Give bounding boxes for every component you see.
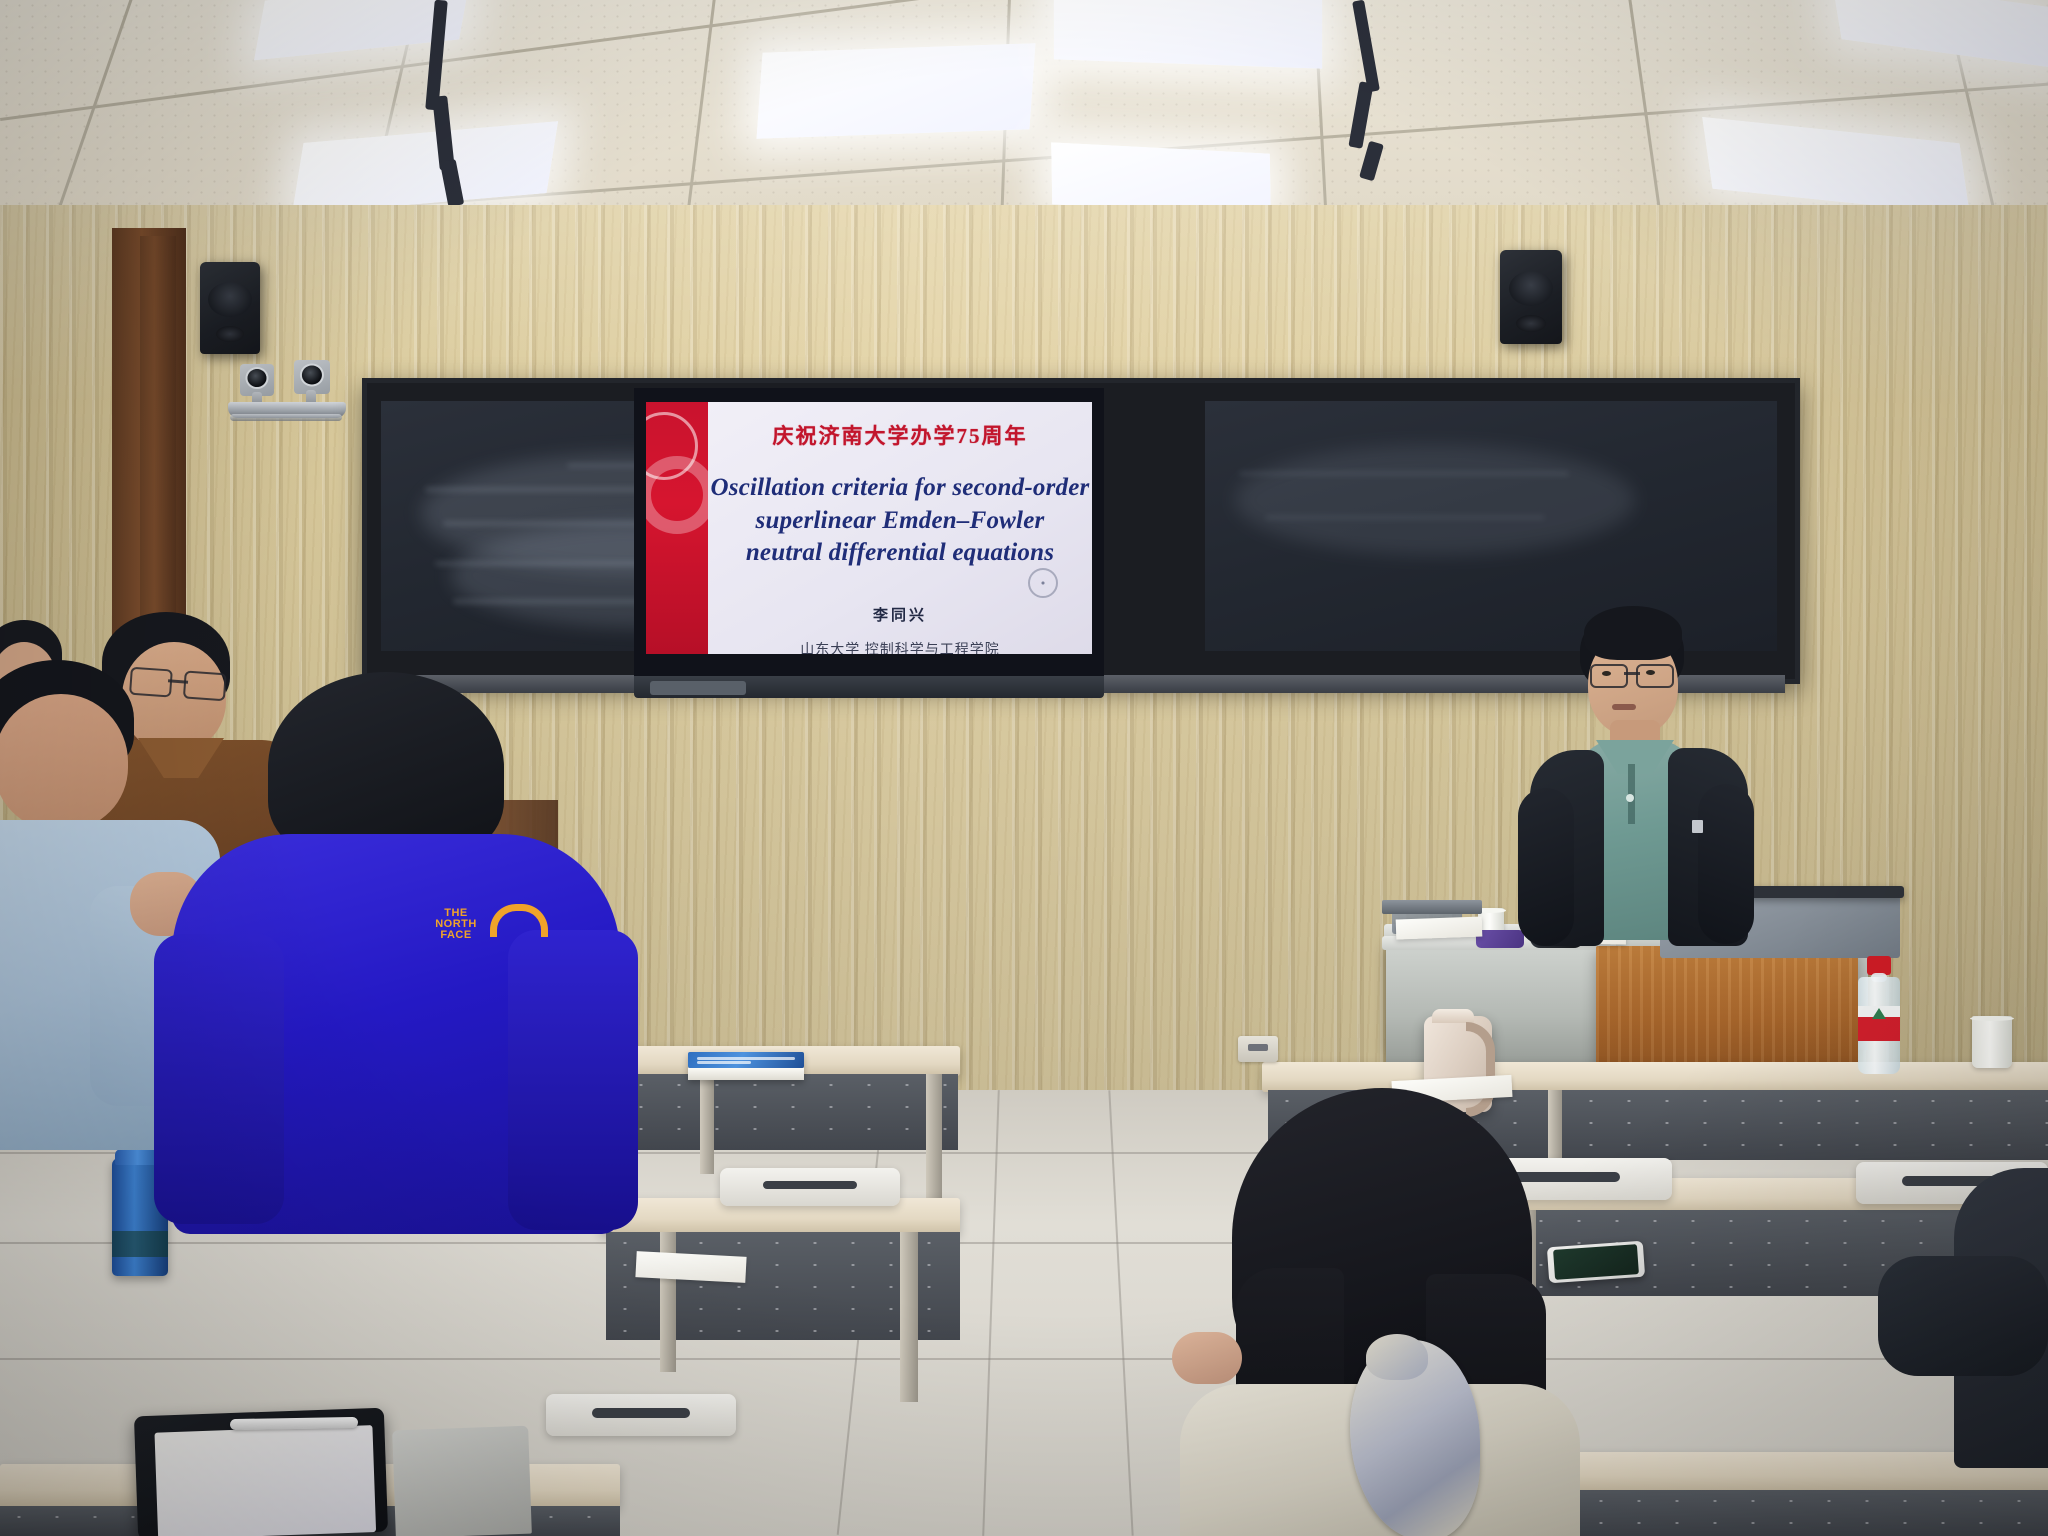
- book-pages: [688, 1068, 804, 1080]
- attendee-head: [0, 694, 128, 830]
- chair-back-slot: [592, 1408, 691, 1417]
- wall-speaker-right: [1500, 250, 1562, 344]
- camera-lens: [302, 365, 322, 384]
- speaker-cone: [208, 282, 251, 317]
- chair-center-front[interactable]: [546, 1394, 736, 1436]
- presenter-jacket-badge: [1692, 820, 1703, 833]
- north-face-logo: THE NORTH FACE: [424, 908, 488, 941]
- slide-accent-bar: [646, 402, 708, 654]
- speaker-tweeter: [216, 326, 245, 343]
- book-cover-line: [697, 1061, 750, 1064]
- ceiling-light-panel: [1054, 0, 1322, 69]
- desk-leg: [900, 1232, 918, 1402]
- lectern-counter-left: [1386, 944, 1612, 1064]
- water-bottle-nongfu-spring: [1858, 956, 1900, 1074]
- chalk-streak: [1239, 471, 1569, 476]
- floor-tile-line: [982, 1090, 1000, 1536]
- blue-cover-book: [688, 1052, 804, 1080]
- floor-tile-line: [0, 1358, 2048, 1360]
- laptop-on-lectern[interactable]: [1382, 900, 1482, 914]
- slide-ring-decor: [646, 456, 716, 534]
- glasses-right-lens: [1636, 664, 1674, 688]
- book-cover-line: [697, 1057, 794, 1060]
- laptop-silver[interactable]: [392, 1426, 532, 1536]
- title-slide: 庆祝济南大学办学75周年 Oscillation criteria for se…: [646, 402, 1092, 654]
- kettle-lid: [1432, 1009, 1474, 1023]
- slide-affiliation: 山东大学 控制科学与工程学院: [800, 639, 1000, 655]
- tablet-screen[interactable]: [155, 1425, 376, 1536]
- wall-speaker-left: [200, 262, 260, 354]
- presenter-arm-left: [1518, 788, 1574, 946]
- presenter-mouth: [1612, 704, 1636, 710]
- slide-title-line-3: neutral differential equations: [711, 537, 1090, 570]
- camera-unit-right: [294, 360, 330, 394]
- thermos-band: [112, 1231, 168, 1257]
- podium-wood-grain: [1596, 946, 1858, 1078]
- logo-line-3: FACE: [424, 930, 488, 941]
- chalk-streak: [1265, 515, 1545, 520]
- presenter: [1492, 608, 1772, 938]
- glasses-bridge: [1624, 672, 1641, 675]
- ceiling-light-panel: [757, 43, 1036, 138]
- stylus-pen: [230, 1417, 358, 1430]
- speaker-tweeter: [1516, 315, 1546, 332]
- paper-cup-right-desk: [1972, 1016, 2012, 1068]
- slide-author: 李同兴: [873, 604, 927, 625]
- speaker-cone: [1509, 271, 1554, 307]
- camera-lens: [247, 369, 266, 387]
- glasses-left-lens: [1590, 664, 1628, 688]
- slide-banner-cn: 庆祝济南大学办学75周年: [773, 420, 1028, 450]
- screen-control-strip[interactable]: [650, 681, 746, 695]
- presenter-eye-right: [1646, 670, 1655, 675]
- scarf-knot: [1366, 1334, 1428, 1380]
- attendee-right-edge-arm: [1878, 1256, 2048, 1416]
- attendee-shoulder-left: [154, 934, 284, 1224]
- attendee-long-hair-scarf: [1180, 1088, 1600, 1536]
- attendee-shoulder-right: [508, 930, 638, 1230]
- chair-back-slot: [763, 1181, 857, 1189]
- book-cover: [688, 1052, 804, 1068]
- screen-settings-icon[interactable]: [1028, 568, 1058, 598]
- desk-leg: [926, 1074, 942, 1204]
- desk-leg: [700, 1074, 714, 1174]
- attendee-blue-tshirt: THE NORTH FACE: [172, 672, 642, 1232]
- presenter-eye-left: [1602, 671, 1611, 676]
- presenter-hair-top: [1584, 606, 1682, 660]
- slide-content: 庆祝济南大学办学75周年 Oscillation criteria for se…: [708, 402, 1092, 654]
- presenter-button: [1626, 794, 1634, 802]
- wooden-podium: [1596, 946, 1858, 1078]
- paper-sheet-lectern: [1396, 917, 1483, 940]
- slide-title-line-1: Oscillation criteria for second-order: [711, 472, 1090, 505]
- presentation-screen[interactable]: 庆祝济南大学办学75周年 Oscillation criteria for se…: [634, 388, 1104, 678]
- chair-center[interactable]: [720, 1168, 900, 1206]
- chalk-smudge: [1235, 445, 1635, 555]
- presenter-arm-right: [1698, 784, 1754, 944]
- camera-shelf-edge: [230, 414, 342, 421]
- floor-tile-line: [1108, 1090, 1133, 1535]
- slide-title: Oscillation criteria for second-order su…: [711, 472, 1090, 570]
- attendee-hand-holding-phone: [1172, 1332, 1242, 1384]
- classroom-photo-scene: 庆祝济南大学办学75周年 Oscillation criteria for se…: [0, 0, 2048, 1536]
- attendee-arm: [1878, 1256, 2048, 1376]
- power-outlet-slot: [1248, 1044, 1268, 1051]
- bottle-label: [1858, 1006, 1900, 1041]
- bottle-logo-icon: [1872, 1008, 1886, 1019]
- slide-title-line-2: superlinear Emden–Fowler: [711, 505, 1090, 538]
